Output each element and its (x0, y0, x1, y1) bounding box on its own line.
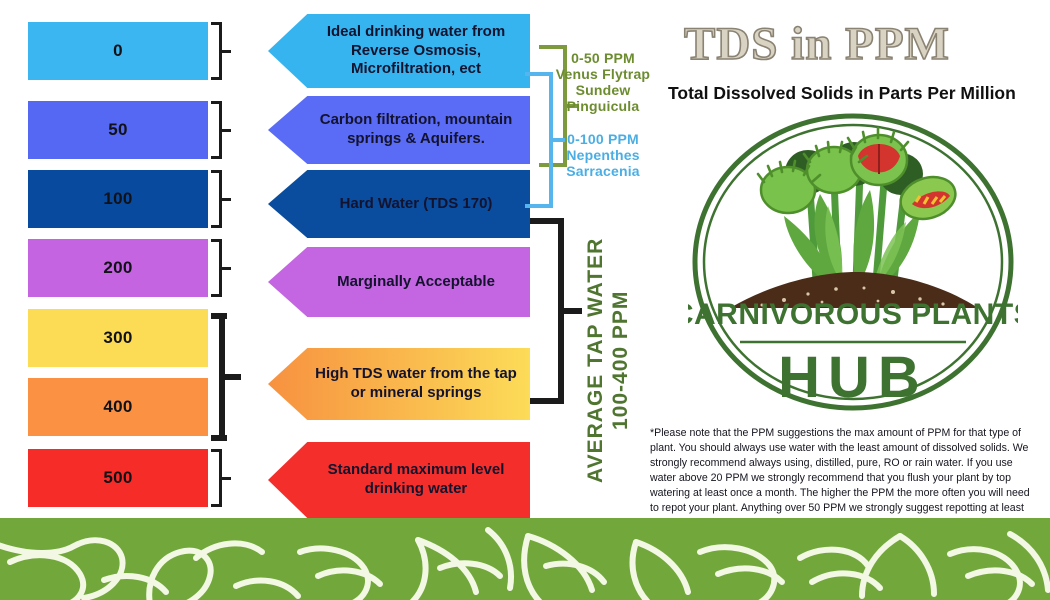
bottom-leaf-band-svg (0, 518, 1050, 600)
connector-blue (525, 72, 553, 208)
brace-200 (211, 239, 233, 297)
callout-arrow-carbon: Carbon filtration, mountain springs & Aq… (268, 96, 530, 164)
swatch-300: 300 (28, 309, 208, 367)
plant-range-value: 0-100 PPM (555, 131, 651, 147)
swatch-0: 0 (28, 22, 208, 80)
footnote-text: *Please note that the PPM suggestions th… (650, 426, 1034, 531)
swatch-value: 50 (108, 120, 128, 140)
callout-arrow-maxlevel: Standard maximum level drinking water (268, 442, 530, 518)
callout-text: Ideal drinking water from Reverse Osmosi… (302, 23, 530, 79)
brace-0 (211, 22, 233, 80)
swatch-value: 300 (103, 328, 132, 348)
callout-arrow-hightds: High TDS water from the tap or mineral s… (268, 348, 530, 420)
connector-tapwater (530, 218, 564, 404)
swatch-500: 500 (28, 449, 208, 507)
brace-50 (211, 101, 233, 159)
plant-name-sundew: Sundew (555, 82, 651, 98)
brace-100 (211, 170, 233, 228)
callout-arrow-marginal: Marginally Acceptable (268, 247, 530, 317)
brace-300-400 (211, 313, 245, 441)
callout-text: Carbon filtration, mountain springs & Aq… (302, 111, 530, 149)
logo-line1: CARNIVOROUS PLANTS (688, 298, 1018, 331)
callout-arrow-hardwater: Hard Water (TDS 170) (268, 170, 530, 238)
swatch-value: 200 (103, 258, 132, 278)
swatch-value: 100 (103, 189, 132, 209)
logo-line2: HUB (778, 345, 928, 410)
average-tap-water-label: AVERAGE TAP WATER 100-400 PPM (584, 216, 640, 504)
plant-name-flytrap: Venus Flytrap (555, 66, 651, 82)
swatch-value: 500 (103, 468, 132, 488)
brace-500 (211, 449, 233, 507)
infographic-canvas: 0 50 100 200 300 400 500 Ideal drinking … (0, 0, 1050, 600)
callout-text: Hard Water (TDS 170) (332, 195, 501, 214)
logo-carnivorous-plants-hub: CARNIVOROUS PLANTS HUB (688, 112, 1018, 412)
plant-range-value: 0-50 PPM (555, 50, 651, 66)
swatch-200: 200 (28, 239, 208, 297)
bottom-leaf-band (0, 518, 1050, 600)
plant-name-sarracenia: Sarracenia (555, 163, 651, 179)
swatch-value: 0 (113, 41, 123, 61)
callout-text: Marginally Acceptable (329, 273, 503, 292)
swatch-100: 100 (28, 170, 208, 228)
swatch-50: 50 (28, 101, 208, 159)
plant-range-0-100: 0-100 PPM Nepenthes Sarracenia (555, 131, 651, 179)
callout-text: High TDS water from the tap or mineral s… (302, 365, 530, 403)
plant-name-pinguicula: Pinguicula (555, 98, 651, 114)
plant-name-nepenthes: Nepenthes (555, 147, 651, 163)
swatch-400: 400 (28, 378, 208, 436)
page-subtitle: Total Dissolved Solids in Parts Per Mill… (668, 83, 1016, 104)
callout-text: Standard maximum level drinking water (302, 461, 530, 499)
callout-arrow-ideal: Ideal drinking water from Reverse Osmosi… (268, 14, 530, 88)
logo-svg: CARNIVOROUS PLANTS HUB (688, 112, 1018, 412)
swatch-value: 400 (103, 397, 132, 417)
page-title: TDS in PPM (684, 17, 950, 71)
plant-range-0-50: 0-50 PPM Venus Flytrap Sundew Pinguicula (555, 50, 651, 114)
